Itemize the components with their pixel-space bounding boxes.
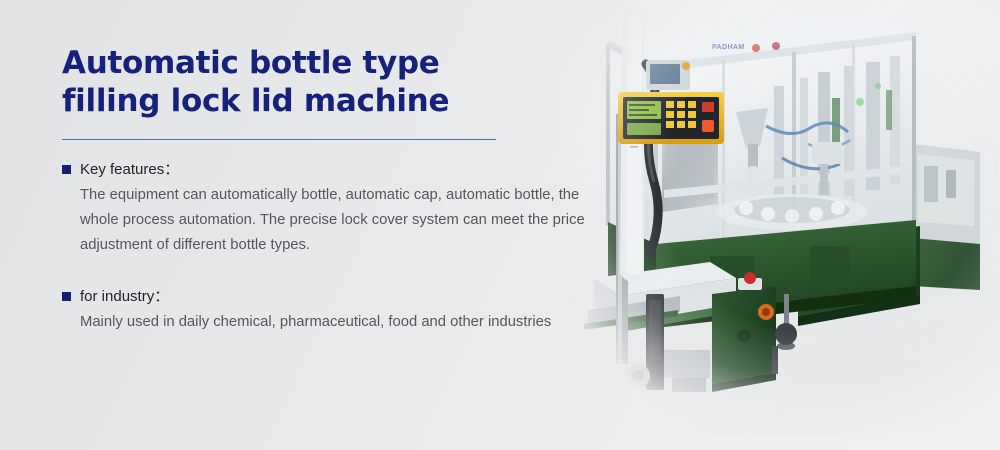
feature-heading-label: Key features： bbox=[80, 160, 179, 179]
machine-photo: PADHAM bbox=[560, 0, 1000, 434]
feature-heading-row: Key features： bbox=[62, 160, 597, 179]
square-bullet-icon bbox=[62, 165, 71, 174]
feature-heading-row: for industry： bbox=[62, 287, 597, 306]
product-banner: PADHAM Automatic bottle type filling loc… bbox=[0, 0, 1000, 450]
feature-block-for-industry: for industry： Mainly used in daily chemi… bbox=[62, 287, 597, 335]
page-title: Automatic bottle type filling lock lid m… bbox=[62, 44, 532, 120]
feature-heading-label: for industry： bbox=[80, 287, 169, 306]
machine-brand-label: PADHAM bbox=[712, 44, 745, 51]
banner-content: Automatic bottle type filling lock lid m… bbox=[62, 44, 597, 335]
feature-body-text: Mainly used in daily chemical, pharmaceu… bbox=[80, 310, 592, 335]
title-divider bbox=[62, 139, 496, 140]
feature-body-text: The equipment can automatically bottle, … bbox=[80, 183, 592, 258]
square-bullet-icon bbox=[62, 292, 71, 301]
feature-block-key-features: Key features： The equipment can automati… bbox=[62, 160, 597, 258]
